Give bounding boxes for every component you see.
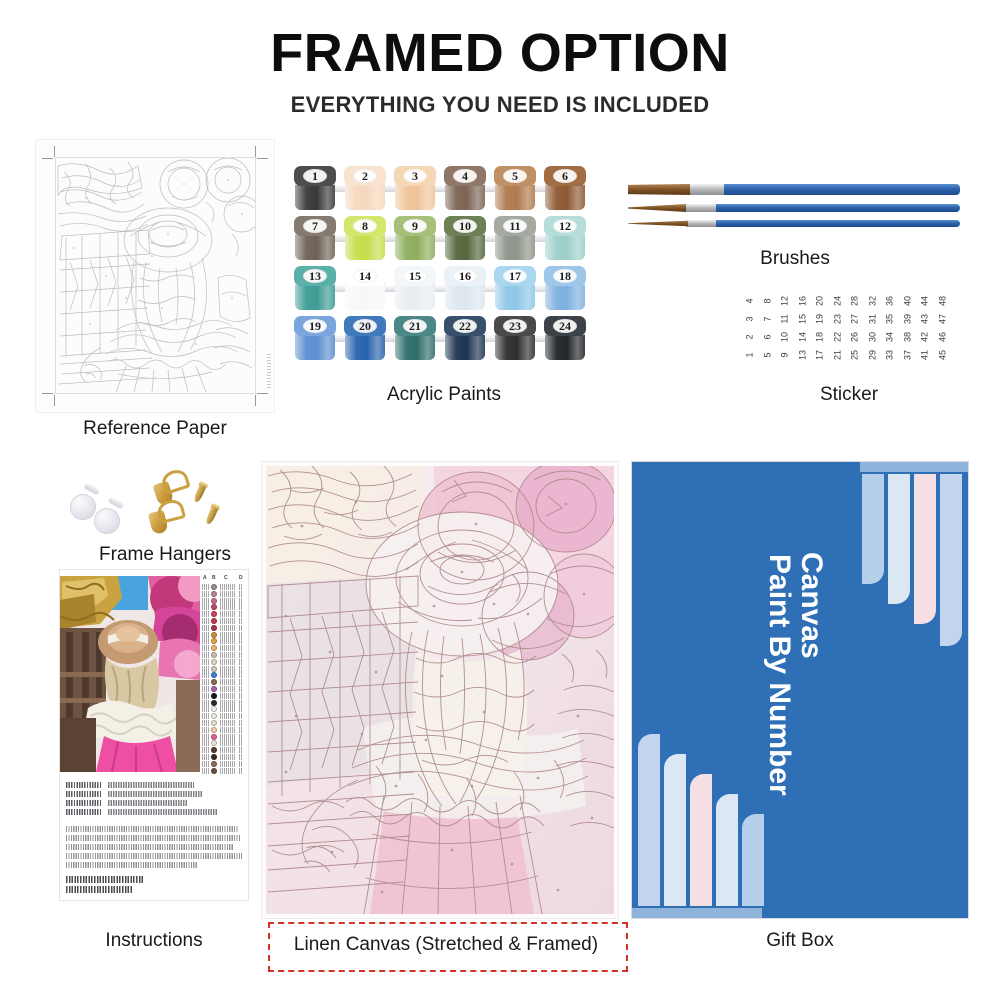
paint-pot[interactable]: 19	[294, 316, 336, 362]
sticker-number[interactable]: 32	[863, 294, 881, 309]
caption-instructions: Instructions	[60, 930, 248, 952]
legend-area-number	[202, 686, 209, 692]
legend-color-id	[220, 740, 236, 746]
legend-row	[202, 761, 246, 767]
legend-color-id	[220, 645, 236, 651]
sticker-number[interactable]: 45	[933, 348, 951, 363]
column-b-key	[66, 791, 102, 797]
paint-pot[interactable]: 1	[294, 166, 336, 212]
paint-pot-number: 23	[494, 316, 536, 336]
sticker-number[interactable]: 42	[916, 330, 934, 345]
legend-quantity	[239, 638, 243, 644]
paint-pot[interactable]: 8	[344, 216, 386, 262]
legend-color-swatch	[211, 625, 217, 631]
sticker-column: 1211109	[777, 292, 792, 364]
legend-area-number	[202, 604, 209, 610]
column-c-value	[108, 800, 188, 806]
paint-pot[interactable]: 3	[394, 166, 436, 212]
brush-handle	[714, 204, 960, 212]
legend-color-id	[220, 693, 236, 699]
legend-color-id	[220, 734, 236, 740]
legend-quantity	[239, 611, 243, 617]
legend-color-id	[220, 652, 236, 658]
sticker-number[interactable]: 33	[881, 348, 899, 363]
legend-quantity	[239, 740, 243, 746]
caption-acrylic-paints: Acrylic Paints	[294, 384, 594, 406]
legend-area-number	[202, 747, 209, 753]
paint-pot-number: 14	[344, 266, 386, 286]
legend-color-swatch	[211, 584, 217, 590]
legend-quantity	[239, 679, 243, 685]
legend-area-number	[202, 740, 209, 746]
legend-color-id	[220, 727, 236, 733]
caption-linen-canvas: Linen Canvas (Stretched & Framed)	[268, 934, 624, 956]
sticker-number[interactable]: 40	[898, 294, 916, 309]
legend-area-number	[202, 625, 209, 631]
legend-quantity	[239, 768, 243, 774]
sticker-number[interactable]: 39	[898, 312, 916, 327]
instruction-note-line	[66, 844, 234, 850]
paint-pot[interactable]: 5	[494, 166, 536, 212]
legend-quantity	[239, 584, 243, 590]
paint-pot[interactable]: 7	[294, 216, 336, 262]
legend-color-swatch	[211, 618, 217, 624]
sticker-number[interactable]: 37	[898, 348, 916, 363]
canvas-line-art	[266, 466, 614, 914]
legend-color-id	[220, 591, 236, 597]
legend-color-swatch	[211, 591, 217, 597]
instructions-artwork	[60, 576, 200, 772]
paint-pot-number: 4	[444, 166, 486, 186]
legend-area-number	[202, 727, 209, 733]
sticker-number[interactable]: 6	[758, 330, 776, 345]
sticker-column: 36353433	[882, 292, 897, 364]
legend-header-row: ABCD	[202, 576, 246, 582]
sticker-number[interactable]: 38	[898, 330, 916, 345]
legend-row	[202, 754, 246, 760]
legend-area-number	[202, 706, 209, 712]
sticker-number[interactable]: 16	[793, 294, 811, 309]
paint-pot-number: 20	[344, 316, 386, 336]
sticker-column: 28272625	[847, 292, 862, 364]
sticker-number[interactable]: 46	[933, 330, 951, 345]
legend-color-swatch	[211, 720, 217, 726]
paint-pot-number: 11	[494, 216, 536, 236]
gift-box-title-line2: Paint By Number	[762, 554, 796, 796]
legend-row	[202, 747, 246, 753]
legend-quantity	[239, 693, 243, 699]
crop-mark	[54, 395, 55, 406]
legend-quantity	[239, 713, 243, 719]
sticker-number[interactable]: 34	[881, 330, 899, 345]
legend-row	[202, 768, 246, 774]
crop-mark	[54, 146, 55, 157]
paint-pot-number: 22	[444, 316, 486, 336]
legend-row	[202, 727, 246, 733]
instruction-column-c: Color ID on paint pots	[66, 800, 242, 807]
legend-row	[202, 666, 246, 672]
legend-color-swatch	[211, 659, 217, 665]
legend-row	[202, 679, 246, 685]
legend-color-id	[220, 666, 236, 672]
paint-pot-number: 12	[544, 216, 586, 236]
legend-area-number	[202, 584, 209, 590]
brush-handle	[712, 220, 960, 227]
legend-quantity	[239, 591, 243, 597]
screw-shaft	[205, 506, 219, 525]
instruction-note-line	[66, 862, 198, 868]
legend-row	[202, 740, 246, 746]
brushes-group	[628, 170, 960, 260]
legend-row	[202, 638, 246, 644]
legend-color-swatch	[211, 632, 217, 638]
canvas-artwork	[266, 466, 614, 914]
instructions-color-art	[60, 576, 200, 772]
sticker-number[interactable]: 8	[758, 294, 776, 309]
sticker-number[interactable]: 3	[741, 312, 759, 327]
gift-box: Canvas Paint By Number	[632, 462, 968, 918]
paint-pot-number: 24	[544, 316, 586, 336]
legend-color-id	[220, 604, 236, 610]
brush-bristles	[628, 204, 686, 212]
sticker-number[interactable]: 13	[793, 348, 811, 363]
sticker-column: 16151413	[795, 292, 810, 364]
legend-color-id	[220, 706, 236, 712]
legend-quantity	[239, 754, 243, 760]
legend-row	[202, 598, 246, 604]
column-c-key	[66, 800, 102, 806]
legend-area-number	[202, 768, 209, 774]
paint-pot[interactable]: 2	[344, 166, 386, 212]
legend-quantity	[239, 666, 243, 672]
legend-color-swatch	[211, 666, 217, 672]
sticker-number[interactable]: 9	[776, 348, 794, 363]
legend-quantity	[239, 672, 243, 678]
legend-row	[202, 645, 246, 651]
paint-pot[interactable]: 9	[394, 216, 436, 262]
legend-color-swatch	[211, 638, 217, 644]
legend-color-id	[220, 618, 236, 624]
legend-quantity	[239, 618, 243, 624]
legend-quantity	[239, 686, 243, 692]
legend-quantity	[239, 700, 243, 706]
legend-row	[202, 700, 246, 706]
legend-area-number	[202, 672, 209, 678]
gift-box-text: Canvas Paint By Number	[632, 462, 968, 918]
brush-liner	[628, 220, 960, 227]
legend-color-swatch	[211, 761, 217, 767]
legend-color-id	[220, 754, 236, 760]
sticker-number[interactable]: 14	[793, 330, 811, 345]
sticker-number[interactable]: 12	[776, 294, 794, 309]
crop-mark	[255, 395, 256, 406]
legend-column-header: B	[212, 575, 216, 581]
instruction-note-line	[66, 853, 242, 859]
legend-area-number	[202, 659, 209, 665]
legend-area-number	[202, 611, 209, 617]
legend-color-swatch	[211, 693, 217, 699]
brush-ferrule	[684, 204, 716, 212]
legend-row	[202, 611, 246, 617]
sticker-number[interactable]: 5	[758, 348, 776, 363]
legend-color-swatch	[211, 652, 217, 658]
paint-pot[interactable]: 6	[544, 166, 586, 212]
legend-color-id	[220, 761, 236, 767]
legend-quantity	[239, 720, 243, 726]
sticker-number[interactable]: 31	[863, 312, 881, 327]
legend-color-swatch	[211, 679, 217, 685]
paint-pot-number: 9	[394, 216, 436, 236]
legend-row	[202, 693, 246, 699]
sticker-number[interactable]: 15	[793, 312, 811, 327]
sticker-number[interactable]: 28	[846, 294, 864, 309]
legend-row	[202, 591, 246, 597]
sticker-number[interactable]: 44	[916, 294, 934, 309]
paint-pot-row: 123456	[294, 166, 594, 212]
legend-color-id	[220, 768, 236, 774]
legend-row	[202, 706, 246, 712]
legend-row	[202, 734, 246, 740]
paint-pot[interactable]: 18	[544, 266, 586, 312]
d-ring-loop	[160, 467, 191, 495]
caption-brushes: Brushes	[700, 248, 890, 270]
legend-quantity	[239, 598, 243, 604]
legend-quantity	[239, 761, 243, 767]
paint-pot[interactable]: 11	[494, 216, 536, 262]
legend-color-id	[220, 686, 236, 692]
paint-pot[interactable]: 24	[544, 316, 586, 362]
instructions-color-legend: ABCD	[202, 576, 246, 776]
sticker-number[interactable]: 41	[916, 348, 934, 363]
sku-line	[66, 886, 132, 893]
brush-bristles	[628, 184, 690, 195]
legend-color-id	[220, 713, 236, 719]
legend-color-swatch	[211, 740, 217, 746]
legend-row	[202, 625, 246, 631]
paint-pot[interactable]: 23	[494, 316, 536, 362]
legend-row	[202, 672, 246, 678]
legend-quantity	[239, 734, 243, 740]
sticker-number[interactable]: 36	[881, 294, 899, 309]
sticker-column: 32313029	[865, 292, 880, 364]
brush-handle	[722, 184, 960, 195]
paint-pot[interactable]: 15	[394, 266, 436, 312]
sticker-number[interactable]: 24	[828, 294, 846, 309]
frame-hangers-group	[66, 470, 266, 550]
column-b-value	[108, 791, 202, 797]
hook-disc	[70, 494, 96, 520]
watermark	[267, 352, 271, 388]
legend-color-id	[220, 638, 236, 644]
crop-mark	[42, 158, 53, 159]
brush-bristles	[628, 220, 688, 227]
paint-pot-row: 789101112	[294, 216, 594, 262]
sticker-number[interactable]: 23	[828, 312, 846, 327]
sticker-number[interactable]: 43	[916, 312, 934, 327]
legend-quantity	[239, 645, 243, 651]
legend-row	[202, 686, 246, 692]
sticker-number[interactable]: 22	[828, 330, 846, 345]
column-d-key	[66, 809, 102, 815]
paint-pot[interactable]: 16	[444, 266, 486, 312]
paint-pot-number: 1	[294, 166, 336, 186]
paint-pot-number: 17	[494, 266, 536, 286]
sticker-number[interactable]: 47	[933, 312, 951, 327]
legend-area-number	[202, 761, 209, 767]
legend-area-number	[202, 652, 209, 658]
legend-quantity	[239, 652, 243, 658]
legend-color-id	[220, 598, 236, 604]
sticker-number[interactable]: 11	[776, 312, 794, 327]
legend-color-swatch	[211, 598, 217, 604]
acrylic-paints-group: 123456789101112131415161718192021222324	[294, 166, 594, 366]
sticker-number[interactable]: 26	[846, 330, 864, 345]
column-d-value	[108, 809, 218, 815]
reference-paper	[36, 140, 274, 412]
legend-color-swatch	[211, 604, 217, 610]
sticker-column: 48474645	[935, 292, 950, 364]
sticker-number[interactable]: 1	[741, 348, 759, 363]
legend-quantity	[239, 706, 243, 712]
paint-pot[interactable]: 4	[444, 166, 486, 212]
legend-color-id	[220, 672, 236, 678]
gift-box-title-line1: Canvas	[794, 552, 828, 659]
caption-gift-box: Gift Box	[632, 930, 968, 952]
instructions-card: ABCD Area number on canvas Number of cor…	[60, 570, 248, 900]
sticker-column: 8765	[760, 292, 775, 364]
crop-mark	[255, 146, 256, 157]
sticker-column: 44434241	[917, 292, 932, 364]
hook-disc	[94, 508, 120, 534]
sticker-number[interactable]: 20	[811, 294, 829, 309]
sticker-number[interactable]: 2	[741, 330, 759, 345]
legend-color-id	[220, 747, 236, 753]
legend-color-swatch	[211, 611, 217, 617]
paint-pot-row: 131415161718	[294, 266, 594, 312]
brush-flat	[628, 184, 960, 195]
legend-area-number	[202, 645, 209, 651]
legend-row	[202, 584, 246, 590]
legend-area-number	[202, 693, 209, 699]
paint-pot[interactable]: 21	[394, 316, 436, 362]
sticker-number[interactable]: 25	[846, 348, 864, 363]
header: FRAMED OPTION EVERYTHING YOU NEED IS INC…	[0, 26, 1000, 118]
sticker-column: 24232221	[830, 292, 845, 364]
sticker-number[interactable]: 4	[741, 294, 759, 309]
paint-pot-number: 3	[394, 166, 436, 186]
paint-pot-number: 13	[294, 266, 336, 286]
paint-pot-number: 6	[544, 166, 586, 186]
paint-pot-number: 10	[444, 216, 486, 236]
paint-pot-number: 18	[544, 266, 586, 286]
caption-reference-paper: Reference Paper	[36, 418, 274, 440]
paint-pot[interactable]: 14	[344, 266, 386, 312]
instruction-note-line	[66, 835, 240, 841]
legend-color-swatch	[211, 672, 217, 678]
brush-ferrule	[688, 184, 724, 195]
legend-quantity	[239, 625, 243, 631]
legend-column-header: A	[203, 575, 207, 581]
legend-area-number	[202, 618, 209, 624]
legend-row	[202, 659, 246, 665]
instruction-column-d: Quantity of paint pots needed	[66, 809, 242, 816]
linen-canvas	[262, 462, 618, 918]
legend-row	[202, 618, 246, 624]
sticker-number[interactable]: 29	[863, 348, 881, 363]
caption-sticker: Sticker	[742, 384, 956, 406]
paint-pot-number: 16	[444, 266, 486, 286]
legend-color-id	[220, 632, 236, 638]
legend-color-swatch	[211, 734, 217, 740]
paint-pot[interactable]: 20	[344, 316, 386, 362]
legend-color-swatch	[211, 713, 217, 719]
legend-color-swatch	[211, 645, 217, 651]
legend-quantity	[239, 727, 243, 733]
instructions-text-block: Area number on canvas Number of correct …	[66, 782, 242, 893]
sticker-sheet: 4321876512111091615141320191817242322212…	[742, 292, 956, 364]
legend-area-number	[202, 700, 209, 706]
legend-color-swatch	[211, 700, 217, 706]
instruction-column-a: Area number on canvas	[66, 782, 242, 789]
paint-pot[interactable]: 12	[544, 216, 586, 262]
paint-pot-number: 7	[294, 216, 336, 236]
sticker-number[interactable]: 18	[811, 330, 829, 345]
legend-quantity	[239, 632, 243, 638]
instruction-column-b: Number of correct colors	[66, 791, 242, 798]
paint-pot-number: 15	[394, 266, 436, 286]
paint-pot[interactable]: 10	[444, 216, 486, 262]
legend-area-number	[202, 591, 209, 597]
legend-color-id	[220, 584, 236, 590]
legend-area-number	[202, 720, 209, 726]
sticker-number[interactable]: 7	[758, 312, 776, 327]
sticker-column: 4321	[742, 292, 757, 364]
paint-pot[interactable]: 17	[494, 266, 536, 312]
sticker-number[interactable]: 30	[863, 330, 881, 345]
legend-area-number	[202, 734, 209, 740]
legend-quantity	[239, 604, 243, 610]
sticker-number[interactable]: 27	[846, 312, 864, 327]
legend-area-number	[202, 666, 209, 672]
reference-line-art	[56, 158, 255, 393]
instruction-note-line	[66, 826, 238, 832]
legend-area-number	[202, 754, 209, 760]
paint-pot-number: 21	[394, 316, 436, 336]
sticker-number[interactable]: 48	[933, 294, 951, 309]
sticker-number[interactable]: 10	[776, 330, 794, 345]
caption-frame-hangers: Frame Hangers	[40, 544, 290, 566]
page-subtitle: EVERYTHING YOU NEED IS INCLUDED	[0, 92, 1000, 118]
legend-color-swatch	[211, 706, 217, 712]
legend-color-id	[220, 679, 236, 685]
crop-mark	[257, 393, 268, 394]
legend-area-number	[202, 598, 209, 604]
legend-row	[202, 713, 246, 719]
paint-pot[interactable]: 22	[444, 316, 486, 362]
sticker-number[interactable]: 17	[811, 348, 829, 363]
brush-ferrule	[686, 220, 716, 227]
paint-pot[interactable]: 13	[294, 266, 336, 312]
sticker-number[interactable]: 35	[881, 312, 899, 327]
sticker-column: 40393837	[900, 292, 915, 364]
sticker-number[interactable]: 19	[811, 312, 829, 327]
paint-pot-number: 5	[494, 166, 536, 186]
paint-pot-number: 19	[294, 316, 336, 336]
legend-color-swatch	[211, 686, 217, 692]
legend-quantity	[239, 747, 243, 753]
legend-color-swatch	[211, 747, 217, 753]
sticker-number[interactable]: 21	[828, 348, 846, 363]
